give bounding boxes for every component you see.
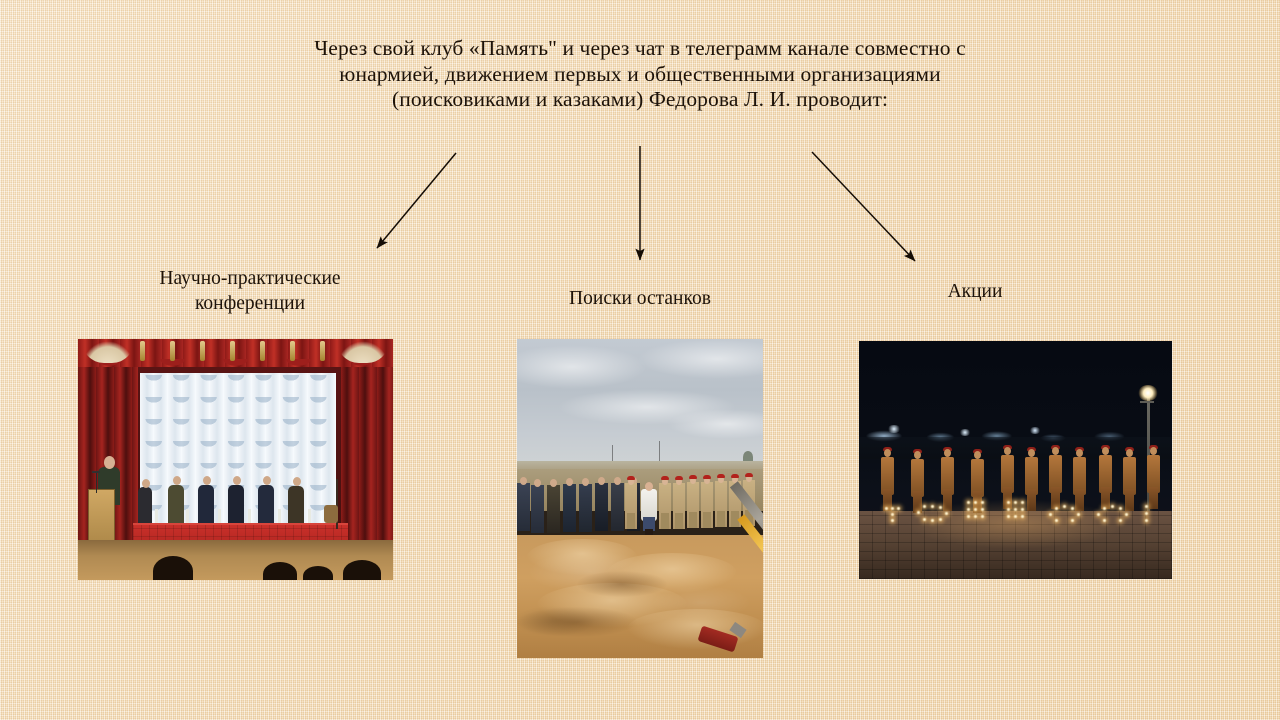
category-label-searches: Поиски останков	[515, 286, 765, 311]
slide-canvas: Через свой клуб «Память" и через чат в т…	[0, 0, 1280, 720]
photo-conference-hall	[78, 339, 393, 580]
arrow-to-actions	[812, 152, 915, 261]
photo-excavation-site	[517, 339, 763, 658]
photo-night-candle-action-content	[859, 341, 1172, 579]
category-label-conferences: Научно-практические конференции	[105, 266, 395, 316]
photo-excavation-site-content	[517, 339, 763, 658]
arrow-to-conferences	[377, 153, 456, 248]
page-title: Через свой клуб «Память" и через чат в т…	[290, 36, 990, 113]
photo-conference-hall-content	[78, 339, 393, 580]
photo-night-candle-action	[859, 341, 1172, 579]
category-label-actions: Акции	[885, 279, 1065, 304]
